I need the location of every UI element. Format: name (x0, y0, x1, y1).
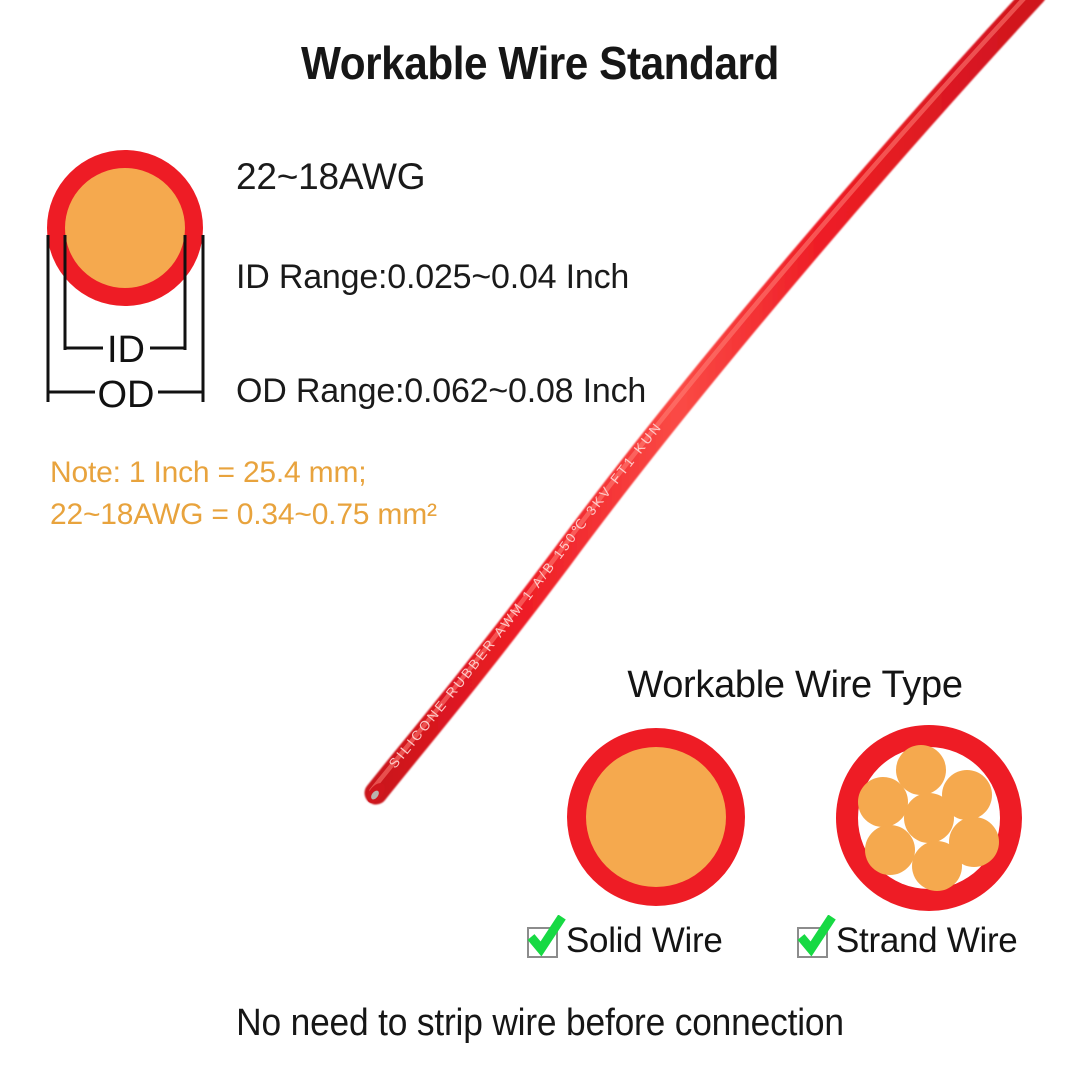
check-icon (526, 915, 566, 964)
solid-wire-label: Solid Wire (566, 921, 722, 961)
strand-2 (942, 770, 992, 820)
strand-wire-label: Strand Wire (836, 921, 1017, 961)
checkbox-strand-wire[interactable] (797, 924, 831, 958)
od-label: OD (98, 374, 155, 416)
solid-wire-svg (565, 722, 747, 912)
page-title: Workable Wire Standard (43, 36, 1037, 90)
solid-wire-figure (565, 722, 747, 912)
strand-5 (865, 825, 915, 875)
cross-section-svg: ID OD (40, 140, 240, 420)
id-label: ID (107, 329, 145, 371)
solid-conductor (586, 747, 726, 887)
strand-wire-checkbox-row[interactable]: Strand Wire (797, 918, 1017, 964)
conversion-note: Note: 1 Inch = 25.4 mm; 22~18AWG = 0.34~… (50, 452, 570, 536)
note-line-1: Note: 1 Inch = 25.4 mm; (50, 452, 570, 494)
spec-awg-range: 22~18AWG (236, 156, 425, 198)
spec-od-range: OD Range:0.062~0.08 Inch (236, 372, 646, 411)
strand-wire-figure (833, 722, 1025, 914)
wire-type-heading: Workable Wire Type (560, 664, 1030, 707)
footer-note: No need to strip wire before connection (38, 1002, 1042, 1045)
wire-cut-end (364, 780, 388, 806)
conductor-core (65, 168, 185, 288)
spec-id-range: ID Range:0.025~0.04 Inch (236, 258, 629, 297)
checkbox-solid-wire[interactable] (527, 924, 561, 958)
check-icon-svg (796, 915, 836, 959)
strand-6 (858, 777, 908, 827)
wire-cross-section-diagram: ID OD (40, 140, 240, 420)
wire-exposed-conductor (370, 789, 381, 801)
strand-wire-svg (833, 722, 1025, 914)
strand-1 (896, 745, 946, 795)
infographic-canvas: Workable Wire Standard ID OD 22~18AWG ID… (0, 0, 1080, 1080)
check-icon-svg (526, 915, 566, 959)
strand-4 (912, 841, 962, 891)
note-line-2: 22~18AWG = 0.34~0.75 mm² (50, 494, 570, 536)
solid-wire-checkbox-row[interactable]: Solid Wire (527, 918, 722, 964)
check-icon (796, 915, 836, 964)
